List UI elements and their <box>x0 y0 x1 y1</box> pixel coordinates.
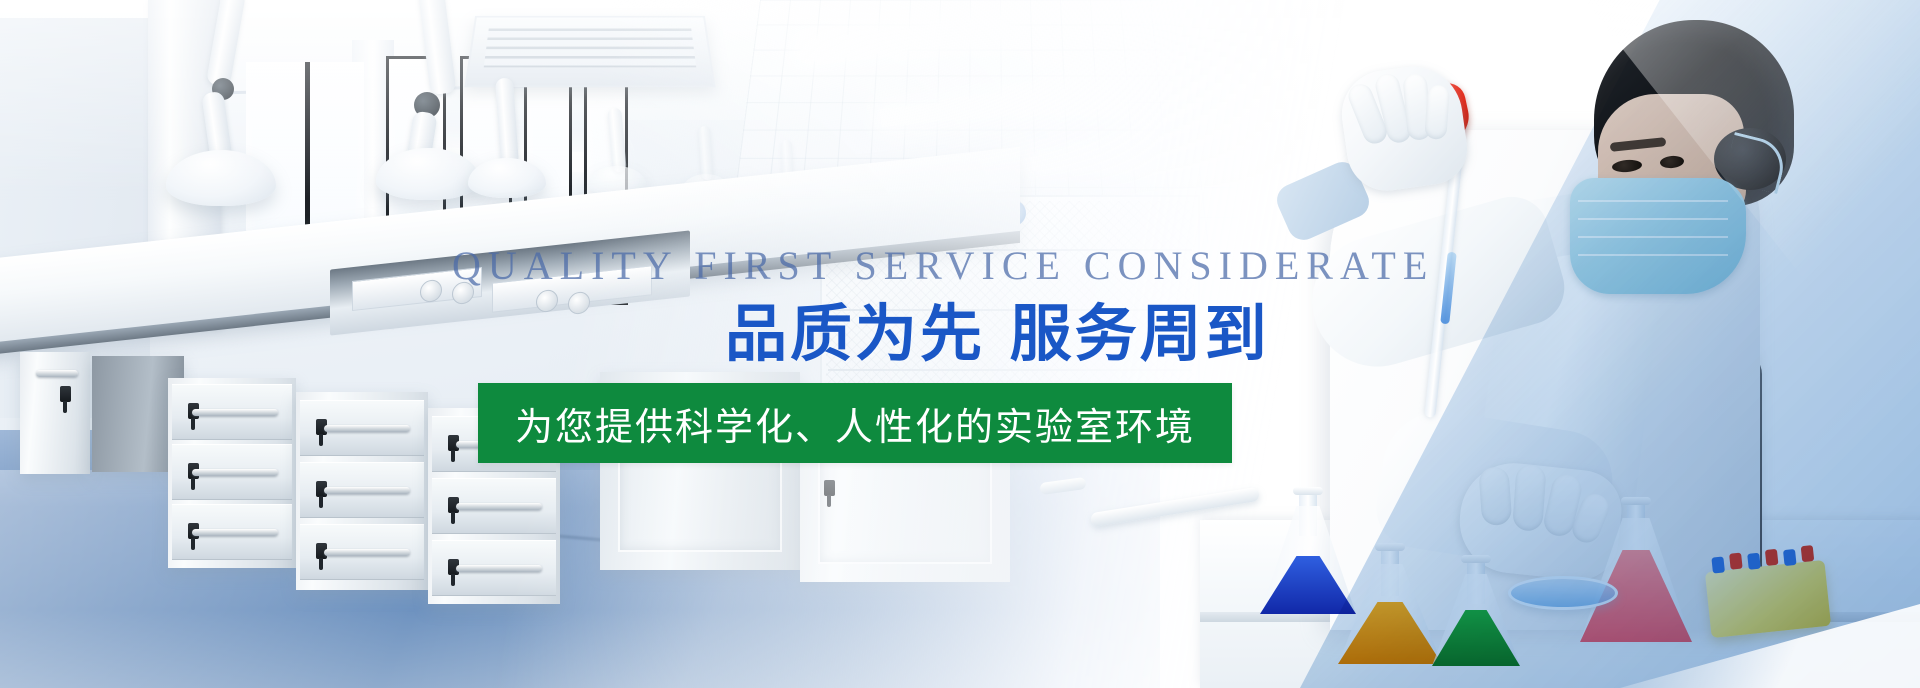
english-tagline: QUALITY FIRST SERVICE CONSIDERATE <box>452 246 1434 286</box>
hero-banner: QUALITY FIRST SERVICE CONSIDERATE 品质为先 服… <box>0 0 1920 688</box>
banner-text-layer: QUALITY FIRST SERVICE CONSIDERATE 品质为先 服… <box>0 0 1920 688</box>
subtitle-band: 为您提供科学化、人性化的实验室环境 <box>478 383 1232 463</box>
subtitle-text: 为您提供科学化、人性化的实验室环境 <box>515 396 1195 451</box>
headline: 品质为先 服务周到 <box>725 300 1270 368</box>
